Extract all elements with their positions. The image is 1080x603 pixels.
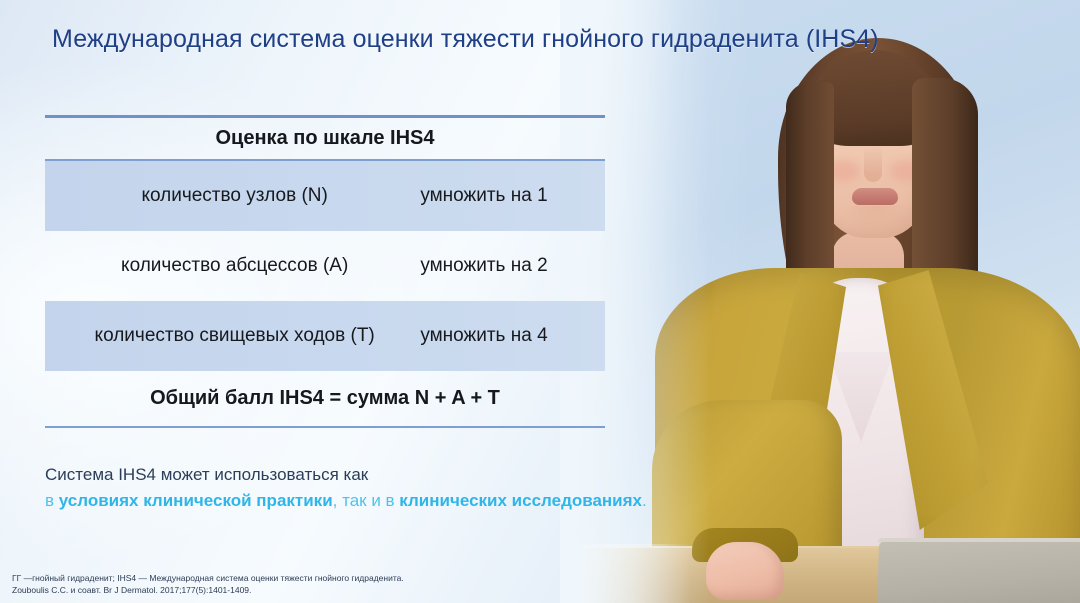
slide-canvas: Международная система оценки тяжести гно… bbox=[0, 0, 1080, 603]
laptop bbox=[877, 538, 1080, 603]
table-total-row: Общий балл IHS4 = сумма N + A + T bbox=[45, 371, 605, 426]
footnote-citation: Zouboulis C.C. и соавт. Br J Dermatol. 2… bbox=[12, 584, 532, 596]
ihs4-score-table: Оценка по шкале IHS4 количество узлов (N… bbox=[45, 115, 605, 428]
nose bbox=[864, 146, 882, 182]
table-rule-bottom bbox=[45, 426, 605, 428]
row-criterion: количество узлов (N) bbox=[45, 185, 420, 207]
table-row: количество свищевых ходов (Т) умножить н… bbox=[45, 301, 605, 371]
row-multiplier: умножить на 2 bbox=[420, 255, 605, 277]
chin bbox=[840, 206, 908, 232]
table-header: Оценка по шкале IHS4 bbox=[45, 118, 605, 159]
row-multiplier: умножить на 1 bbox=[420, 185, 605, 207]
row-multiplier: умножить на 4 bbox=[420, 325, 605, 347]
usage-note: Система IHS4 может использоваться как в … bbox=[45, 462, 665, 515]
laptop-lid-edge bbox=[878, 538, 1080, 542]
table-row: количество абсцессов (А) умножить на 2 bbox=[45, 231, 605, 301]
note-highlight-practice: условиях клинической практики bbox=[59, 491, 333, 510]
note-connector: , так и в bbox=[333, 491, 400, 510]
lips bbox=[852, 188, 898, 205]
row-criterion: количество абсцессов (А) bbox=[45, 255, 420, 277]
note-period: . bbox=[642, 491, 647, 510]
footnote-abbreviations: ГГ —гнойный гидраденит; IHS4 — Междунаро… bbox=[12, 572, 532, 584]
footnote: ГГ —гнойный гидраденит; IHS4 — Междунаро… bbox=[12, 572, 532, 597]
note-prefix: в bbox=[45, 491, 59, 510]
desk-fade-overlay bbox=[560, 544, 690, 603]
table-row: количество узлов (N) умножить на 1 bbox=[45, 161, 605, 231]
row-criterion: количество свищевых ходов (Т) bbox=[45, 325, 420, 347]
note-highlight-research: клинических исследованиях bbox=[399, 491, 642, 510]
usage-note-line2: в условиях клинической практики, так и в… bbox=[45, 488, 665, 514]
hand bbox=[706, 542, 784, 600]
page-title: Международная система оценки тяжести гно… bbox=[52, 24, 879, 54]
usage-note-line1: Система IHS4 может использоваться как bbox=[45, 462, 665, 488]
